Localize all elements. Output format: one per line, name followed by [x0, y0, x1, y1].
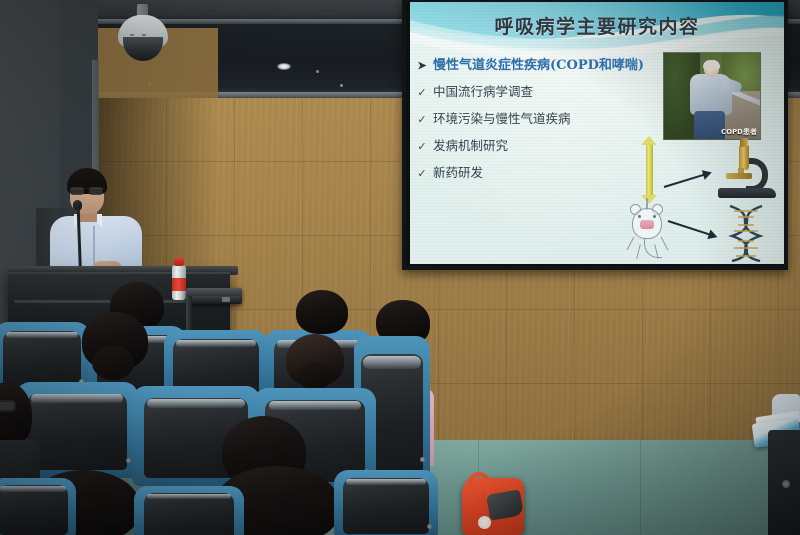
- seat-bolt: [427, 524, 432, 529]
- wall-speck: [316, 70, 319, 73]
- projection-screen-frame: 呼吸病学主要研究内容 ➤ 慢性气道炎症性疾病(COPD和哮喘) ✓ 中国流行病学…: [402, 0, 788, 270]
- photo-caption: COPD患者: [721, 127, 757, 137]
- projection-screen-surface: 呼吸病学主要研究内容 ➤ 慢性气道炎症性疾病(COPD和哮喘) ✓ 中国流行病学…: [410, 2, 784, 264]
- audience-head: [296, 290, 348, 334]
- bullet-text: 环境污染与慢性气道疾病: [433, 108, 571, 127]
- mouse-limb: [627, 237, 635, 251]
- seat-highlight: [176, 340, 255, 347]
- arrow-bullet-icon: ➤: [416, 59, 428, 72]
- laboratory-mouse-icon: [618, 198, 680, 260]
- eyeglass-lens-left: [70, 187, 84, 195]
- seat: [0, 478, 76, 535]
- seat-highlight: [269, 401, 362, 410]
- microscope-icon: [716, 144, 778, 198]
- equipment-label: [222, 297, 230, 302]
- seat: [134, 486, 244, 535]
- seat: [334, 470, 438, 535]
- research-workflow-diagram: [610, 142, 784, 264]
- lectern-seam: [14, 300, 202, 303]
- bullet-text: 中国流行病学调查: [433, 81, 533, 100]
- copd-patient-photo: COPD患者: [663, 52, 761, 140]
- bottle-cap: [174, 258, 184, 266]
- bullet-text: 慢性气道炎症性疾病(COPD和哮喘): [433, 54, 644, 73]
- slide-title: 呼吸病学主要研究内容: [410, 12, 784, 39]
- microscope-eyepiece: [740, 138, 748, 147]
- check-bullet-icon: ✓: [416, 113, 428, 126]
- wall-speck: [340, 84, 343, 87]
- equipment-shelf-front: [192, 296, 240, 304]
- bullet-text: 发病机制研究: [433, 135, 508, 154]
- equipment-post: [186, 296, 192, 334]
- eyeglass-lens-right: [89, 187, 103, 195]
- bullet-item-2: ✓ 中国流行病学调查: [416, 81, 686, 100]
- diagram-arrow-to-microscope: [664, 172, 710, 188]
- seat-cushion: [144, 493, 234, 535]
- backpack-strap: [468, 472, 490, 494]
- seat-highlight: [31, 394, 124, 403]
- mouse-eye: [653, 215, 656, 218]
- seat-highlight: [346, 479, 425, 485]
- dna-helix-icon: [720, 204, 774, 262]
- microscope-stage: [726, 173, 752, 179]
- backpack-logo: [478, 516, 491, 529]
- photo-person-hair: [703, 60, 720, 69]
- presenter: [44, 168, 148, 280]
- seat-side-bolt: [782, 480, 790, 488]
- water-bottle: [172, 258, 186, 300]
- camera-dome: [123, 37, 163, 61]
- seat-highlight: [147, 399, 244, 408]
- mouse-limb: [636, 244, 641, 259]
- ceiling-light-reflection: [277, 63, 291, 70]
- red-backpack: [462, 478, 524, 535]
- audience-hair-bun: [92, 346, 134, 380]
- bullet-text: 新药研发: [433, 162, 483, 181]
- bullet-item-1: ➤ 慢性气道炎症性疾病(COPD和哮喘): [416, 54, 686, 73]
- check-bullet-icon: ✓: [416, 86, 428, 99]
- seat-highlight: [363, 356, 421, 370]
- camera-led: [142, 34, 146, 36]
- bottle-label: [172, 278, 186, 291]
- camera-led: [130, 34, 134, 36]
- seat-bolt: [126, 458, 131, 463]
- mouse-eye: [638, 215, 641, 218]
- dna-helix-graphic: [720, 204, 774, 262]
- yellow-double-arrow-icon: [646, 144, 653, 196]
- check-bullet-icon: ✓: [416, 167, 428, 180]
- microscope-base: [718, 188, 776, 198]
- dome-security-camera: [118, 4, 168, 66]
- backpack-flap: [486, 489, 524, 521]
- seat-highlight: [0, 486, 65, 492]
- seat-highlight: [147, 494, 231, 499]
- seat-cushion: [0, 485, 68, 535]
- lecture-hall-scene: 呼吸病学主要研究内容 ➤ 慢性气道炎症性疾病(COPD和哮喘) ✓ 中国流行病学…: [0, 0, 800, 535]
- mouse-tail: [644, 238, 662, 258]
- microscope-tube: [739, 144, 749, 170]
- bullet-item-3: ✓ 环境污染与慢性气道疾病: [416, 108, 686, 127]
- check-bullet-icon: ✓: [416, 140, 428, 153]
- mouse-injection-patch: [640, 220, 654, 229]
- seat-cushion: [343, 478, 428, 534]
- seat-highlight: [6, 332, 79, 339]
- eyeglasses-icon: [0, 400, 16, 412]
- seat-cushion: [27, 394, 127, 471]
